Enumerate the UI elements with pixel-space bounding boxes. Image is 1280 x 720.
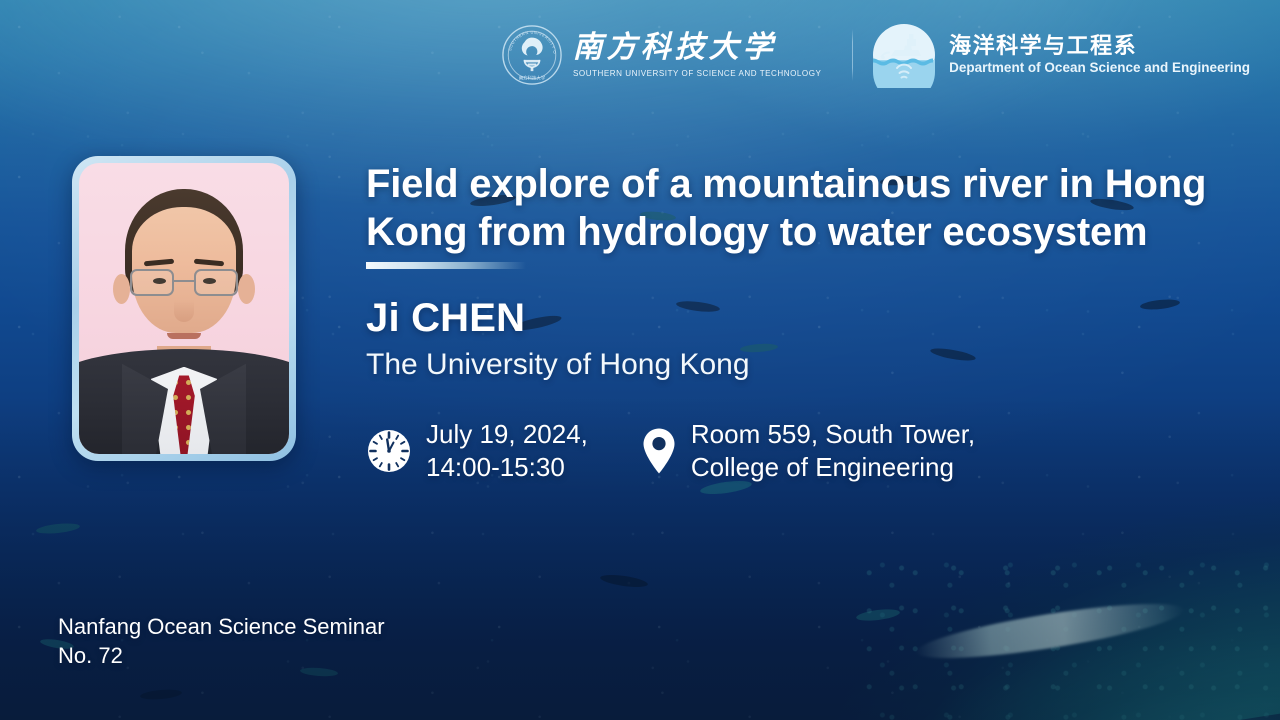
clock-icon [366, 428, 412, 474]
seminar-series-label: Nanfang Ocean Science Seminar No. 72 [58, 612, 385, 671]
title-underline-rule [366, 262, 526, 269]
seminar-title: Field explore of a mountainous river in … [366, 160, 1211, 256]
coral-reef-slope [743, 448, 1280, 720]
seminar-location-text: Room 559, South Tower, College of Engine… [691, 418, 975, 485]
seminar-meta: July 19, 2024, 14:00-15:30 Room 559, Sou… [366, 418, 1226, 485]
portrait-lens-left [130, 269, 174, 296]
portrait-nose [174, 300, 194, 322]
portrait-lens-right [194, 269, 238, 296]
seminar-datetime: July 19, 2024, 14:00-15:30 [366, 418, 588, 485]
speaker-portrait-photo [79, 163, 289, 454]
map-pin-icon [641, 427, 677, 475]
fish-silhouette [36, 522, 81, 536]
coral-reef-highlight [870, 580, 1280, 720]
speaker-affiliation: The University of Hong Kong [366, 348, 1226, 382]
seminar-poster: 南方科技大学 SOUTHERN UNIVERSITY OF SCIENCE AN… [0, 0, 1280, 720]
large-fish-silhouette [914, 593, 1186, 669]
fish-silhouette [856, 607, 901, 622]
seminar-datetime-text: July 19, 2024, 14:00-15:30 [426, 418, 588, 485]
seminar-location: Room 559, South Tower, College of Engine… [641, 418, 975, 485]
speaker-name: Ji CHEN [366, 296, 1226, 341]
portrait-glasses-bridge [174, 280, 194, 282]
portrait-mouth [167, 333, 201, 339]
fish-silhouette [600, 573, 649, 590]
portrait-ear-right [238, 274, 255, 304]
speaker-portrait-frame [72, 156, 296, 461]
fish-silhouette [140, 688, 183, 701]
portrait-eyeglasses [128, 269, 240, 299]
seminar-content: Field explore of a mountainous river in … [366, 0, 1226, 485]
coral-reef-texture [860, 550, 1280, 720]
